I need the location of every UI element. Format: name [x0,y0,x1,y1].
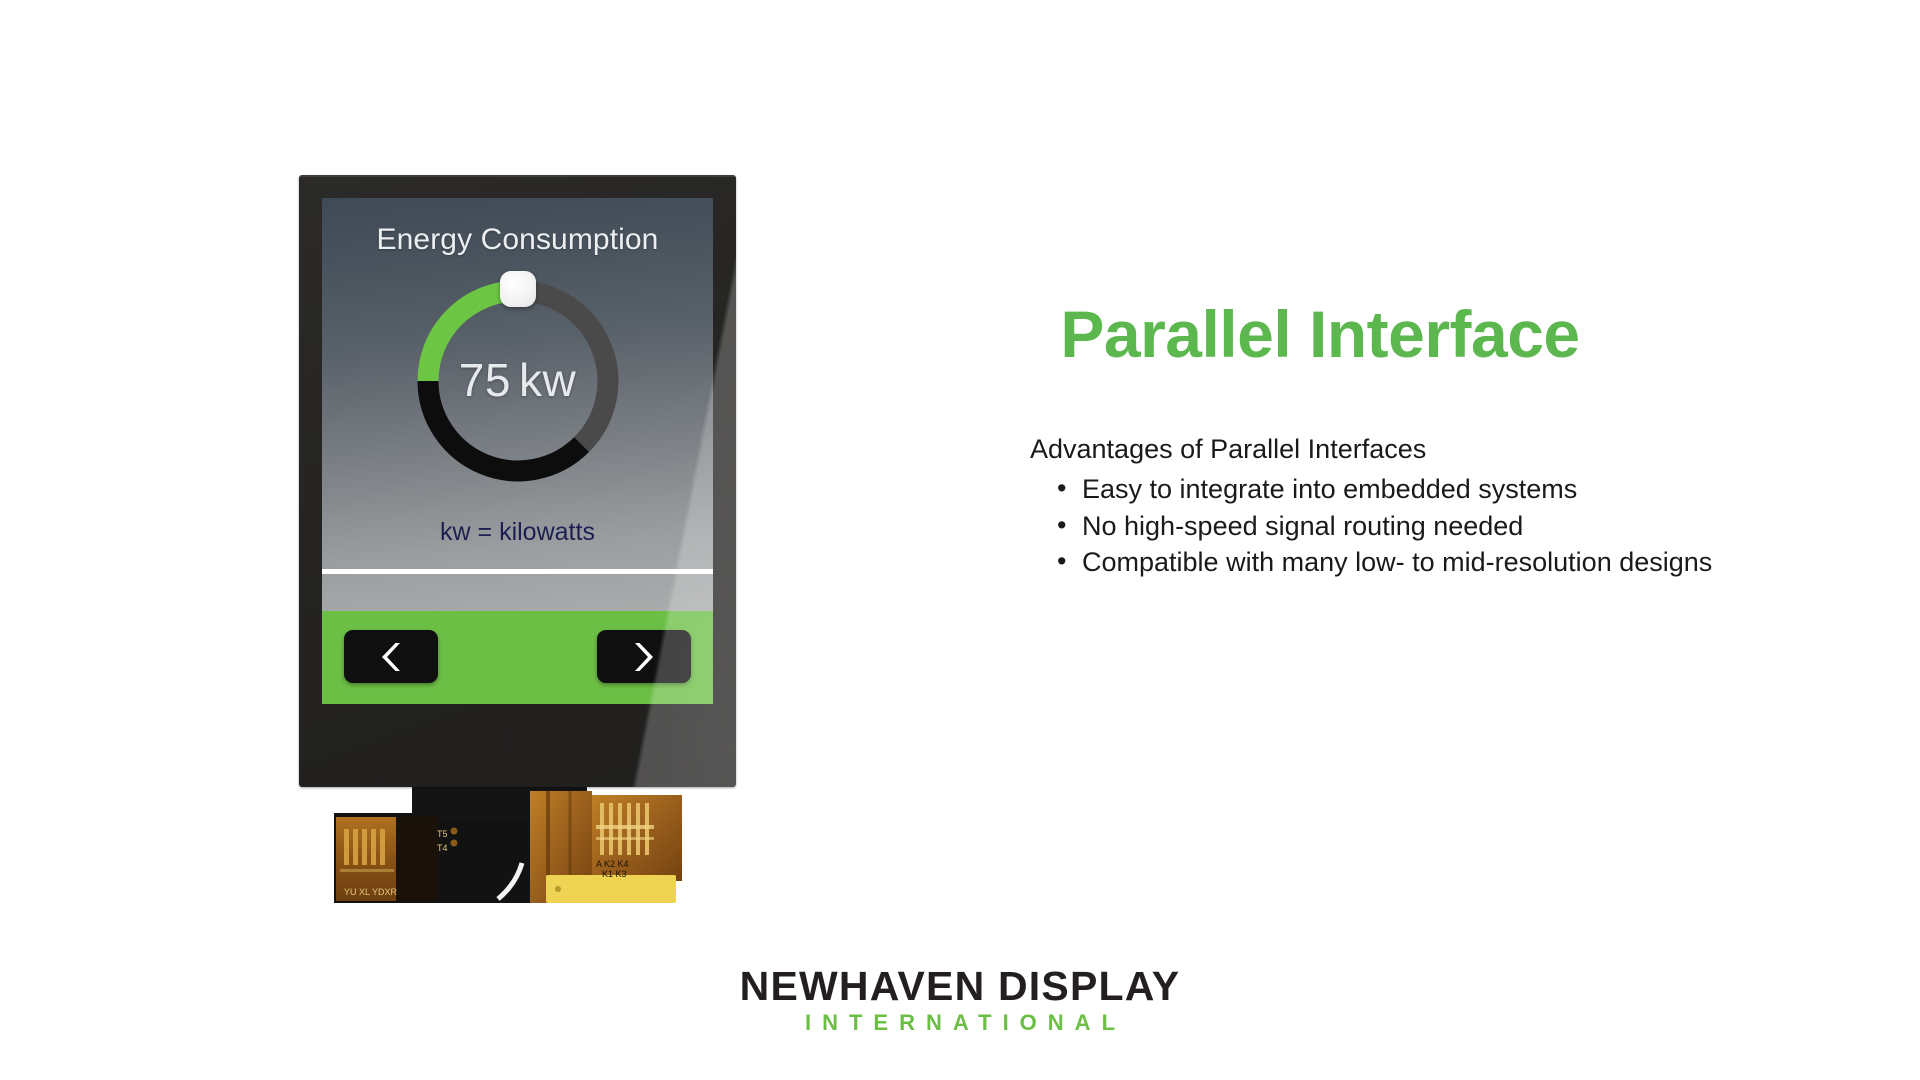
screen-divider [322,569,713,574]
svg-text:YU XL YDXR: YU XL YDXR [344,887,398,897]
svg-text:A K2 K4: A K2 K4 [596,859,629,869]
gauge-value-label: 75kw [410,353,626,407]
gauge-value-unit: kw [519,354,576,406]
energy-gauge[interactable]: 75kw [410,273,626,489]
screen-caption: kw = kilowatts [322,518,713,547]
next-button[interactable] [597,630,691,683]
lcd-display-module: T5 T4 YU XL YDXR A K2 K4 K1 K3 Energy Co… [299,175,736,787]
body-copy: Advantages of Parallel Interfaces Easy t… [1030,431,1870,580]
prev-button[interactable] [344,630,438,683]
gauge-value-number: 75 [459,354,511,406]
logo-wordmark: NEWHAVEN DISPLAY [0,966,1920,1007]
newhaven-logo: NEWHAVEN DISPLAY INTERNATIONAL [0,966,1920,1034]
list-item: Easy to integrate into embedded systems [1030,471,1870,507]
list-item: No high-speed signal routing needed [1030,508,1870,544]
screen-title: Energy Consumption [322,223,713,257]
list-item: Compatible with many low- to mid-resolut… [1030,544,1870,580]
flex-pcb-tail: T5 T4 YU XL YDXR A K2 K4 K1 K3 [334,785,684,912]
lcd-screen: Energy Consumption 75kw kw = kilowatts [322,198,713,704]
slide-canvas: T5 T4 YU XL YDXR A K2 K4 K1 K3 Energy Co… [0,0,1920,1080]
chevron-right-icon [631,640,657,674]
svg-text:T4: T4 [437,843,448,853]
page-title: Parallel Interface [1030,300,1610,369]
gauge-knob-handle[interactable] [500,271,536,307]
logo-tagline: INTERNATIONAL [0,1012,1920,1034]
slide-content: Parallel Interface Advantages of Paralle… [1030,300,1870,580]
screen-nav-bar [322,611,713,704]
chevron-left-icon [378,640,404,674]
lead-line: Advantages of Parallel Interfaces [1030,431,1870,467]
advantages-list: Easy to integrate into embedded systems … [1030,471,1870,580]
svg-text:K1 K3: K1 K3 [602,869,627,879]
svg-text:T5: T5 [437,829,448,839]
